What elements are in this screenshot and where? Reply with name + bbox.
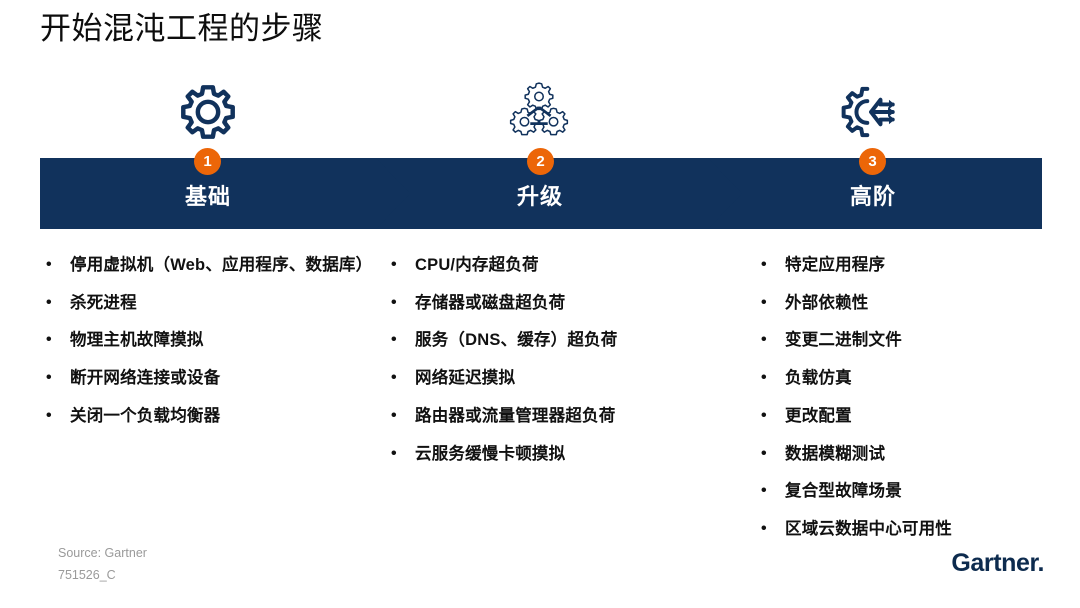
list-item: 网络延迟摸拟: [385, 365, 725, 392]
logo-wordmark: Gartner: [951, 549, 1037, 577]
list-item: CPU/内存超负荷: [385, 252, 725, 279]
list-item: 物理主机故障摸拟: [40, 327, 380, 354]
single-gear-icon: [153, 74, 263, 150]
list-item: 区域云数据中心可用性: [755, 516, 1045, 543]
list-item: 外部依赖性: [755, 290, 1045, 317]
gear-arrows-icon: [817, 74, 927, 150]
bullet-list-2: CPU/内存超负荷 存储器或磁盘超负荷 服务（DNS、缓存）超负荷 网络延迟摸拟…: [385, 252, 725, 467]
list-item: 变更二进制文件: [755, 327, 1045, 354]
step-badge-3: 3: [859, 148, 886, 175]
list-item: 更改配置: [755, 403, 1045, 430]
list-item: 关闭一个负载均衡器: [40, 403, 380, 430]
list-item: 存储器或磁盘超负荷: [385, 290, 725, 317]
list-item: 路由器或流量管理器超负荷: [385, 403, 725, 430]
step-icon-row: [40, 74, 1042, 150]
page-title: 开始混沌工程的步骤: [40, 8, 324, 50]
bullet-list-3: 特定应用程序 外部依赖性 变更二进制文件 负载仿真 更改配置 数据模糊测试 复合…: [755, 252, 1045, 543]
logo-dot: .: [1037, 549, 1044, 577]
step-detail-columns: 停用虚拟机（Web、应用程序、数据库） 杀死进程 物理主机故障摸拟 断开网络连接…: [40, 252, 1042, 542]
list-item: 服务（DNS、缓存）超负荷: [385, 327, 725, 354]
step-badge-1: 1: [194, 148, 221, 175]
source-attribution: Source: Gartner 751526_C: [58, 543, 147, 587]
three-gears-icon: [484, 74, 594, 150]
list-item: 负载仿真: [755, 365, 1045, 392]
bullet-list-1: 停用虚拟机（Web、应用程序、数据库） 杀死进程 物理主机故障摸拟 断开网络连接…: [40, 252, 380, 430]
step-label-3: 高阶: [793, 186, 953, 208]
step-label-2: 升级: [460, 186, 620, 208]
list-item: 数据模糊测试: [755, 441, 1045, 468]
step-column-3: 特定应用程序 外部依赖性 变更二进制文件 负载仿真 更改配置 数据模糊测试 复合…: [755, 252, 1045, 554]
slide-root: 开始混沌工程的步骤: [0, 0, 1080, 608]
list-item: 复合型故障场景: [755, 478, 1045, 505]
list-item: 断开网络连接或设备: [40, 365, 380, 392]
list-item: 停用虚拟机（Web、应用程序、数据库）: [40, 252, 380, 279]
list-item: 云服务缓慢卡顿摸拟: [385, 441, 725, 468]
step-badge-2: 2: [527, 148, 554, 175]
gartner-logo: Gartner.: [951, 551, 1044, 576]
list-item: 杀死进程: [40, 290, 380, 317]
step-column-2: CPU/内存超负荷 存储器或磁盘超负荷 服务（DNS、缓存）超负荷 网络延迟摸拟…: [385, 252, 725, 478]
step-label-1: 基础: [128, 186, 288, 208]
step-column-1: 停用虚拟机（Web、应用程序、数据库） 杀死进程 物理主机故障摸拟 断开网络连接…: [40, 252, 380, 441]
document-id: 751526_C: [58, 565, 147, 587]
list-item: 特定应用程序: [755, 252, 1045, 279]
source-label: Source: Gartner: [58, 543, 147, 565]
